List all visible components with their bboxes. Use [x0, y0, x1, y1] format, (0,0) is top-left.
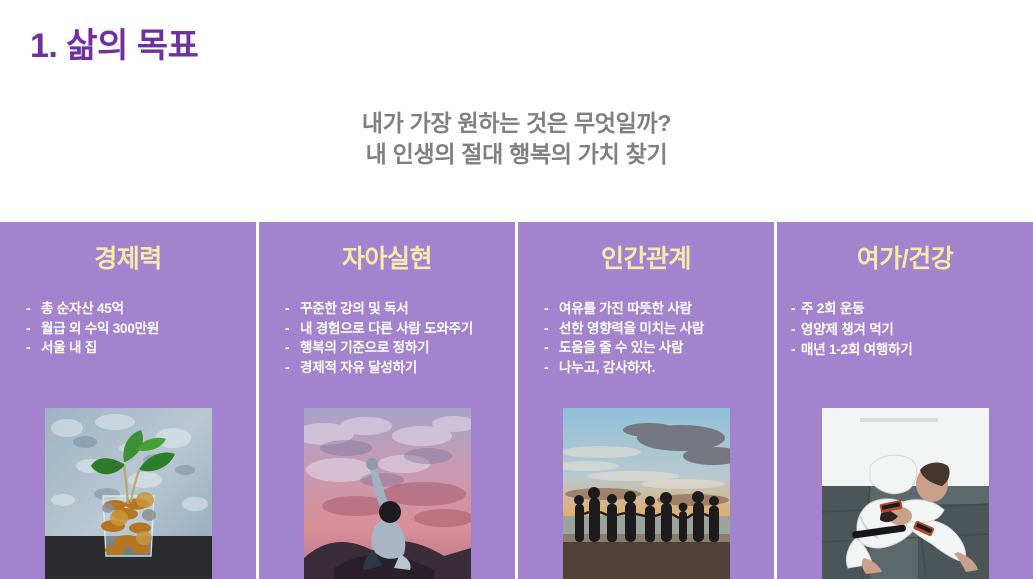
- list-item-label: 월급 외 수익 300만원: [41, 319, 248, 339]
- column-photo-wrap: [259, 408, 515, 579]
- bullet-dash-icon: -: [285, 319, 300, 339]
- column-heading: 인간관계: [601, 239, 691, 275]
- list-item: - 주 2회 운동: [791, 299, 1025, 320]
- list-item-label: 서울 내 집: [41, 338, 248, 358]
- bullet-dash-icon: -: [285, 358, 300, 378]
- column-heading: 여가/건강: [857, 239, 953, 275]
- bullet-dash-icon: -: [26, 338, 41, 358]
- list-item: - 매년 1-2회 여행하기: [791, 340, 1025, 361]
- list-item-label: 경제적 자유 달성하기: [300, 358, 507, 378]
- list-item: - 서울 내 집: [26, 338, 248, 358]
- bullet-dash-icon: -: [544, 319, 559, 339]
- column-self-realization[interactable]: 자아실현 - 꾸준한 강의 및 독서 - 내 경험으로 다른 사람 도와주기 -…: [259, 222, 515, 579]
- goal-columns: 경제력 - 총 순자산 45억 - 월급 외 수익 300만원 - 서울 내 집: [0, 222, 1033, 579]
- list-item: - 총 순자산 45억: [26, 299, 248, 319]
- column-photo-wrap: [518, 408, 774, 579]
- bullet-dash-icon: -: [544, 358, 559, 378]
- coins-jar-sprout-photo: [45, 408, 212, 579]
- column-bullet-list: - 여유를 가진 따뜻한 사람 - 선한 영향력을 미치는 사람 - 도움을 줄…: [518, 299, 774, 377]
- bullet-dash-icon: -: [791, 299, 801, 320]
- list-item: - 여유를 가진 따뜻한 사람: [544, 299, 766, 319]
- list-item: - 도움을 줄 수 있는 사람: [544, 338, 766, 358]
- list-item-label: 나누고, 감사하자.: [559, 358, 766, 378]
- subtitle-line-2: 내 인생의 절대 행복의 가치 찾기: [0, 139, 1033, 170]
- column-leisure-health[interactable]: 여가/건강 - 주 2회 운동 - 영양제 챙겨 먹기 - 매년 1-2회 여행…: [777, 222, 1033, 579]
- list-item: - 선한 영향력을 미치는 사람: [544, 319, 766, 339]
- slide-subtitle: 내가 가장 원하는 것은 무엇일까? 내 인생의 절대 행복의 가치 찾기: [0, 108, 1033, 170]
- column-bullet-list: - 주 2회 운동 - 영양제 챙겨 먹기 - 매년 1-2회 여행하기: [777, 299, 1033, 361]
- bullet-dash-icon: -: [26, 319, 41, 339]
- list-item-label: 여유를 가진 따뜻한 사람: [559, 299, 766, 319]
- list-item-label: 행복의 기준으로 정하기: [300, 338, 507, 358]
- column-heading: 경제력: [94, 239, 162, 275]
- bullet-dash-icon: -: [544, 338, 559, 358]
- list-item: - 나누고, 감사하자.: [544, 358, 766, 378]
- slide-canvas: 1. 삶의 목표 내가 가장 원하는 것은 무엇일까? 내 인생의 절대 행복의…: [0, 0, 1033, 579]
- list-item-label: 내 경험으로 다른 사람 도와주기: [300, 319, 507, 339]
- list-item: - 행복의 기준으로 정하기: [285, 338, 507, 358]
- bullet-dash-icon: -: [791, 340, 801, 361]
- list-item-label: 총 순자산 45억: [41, 299, 248, 319]
- list-item-label: 꾸준한 강의 및 독서: [300, 299, 507, 319]
- subtitle-line-1: 내가 가장 원하는 것은 무엇일까?: [0, 108, 1033, 139]
- list-item: - 경제적 자유 달성하기: [285, 358, 507, 378]
- column-heading: 자아실현: [342, 239, 432, 275]
- column-bullet-list: - 총 순자산 45억 - 월급 외 수익 300만원 - 서울 내 집: [0, 299, 256, 358]
- bullet-dash-icon: -: [791, 320, 801, 341]
- people-holding-hands-sunset-photo: [563, 408, 730, 579]
- bullet-dash-icon: -: [544, 299, 559, 319]
- bullet-dash-icon: -: [285, 299, 300, 319]
- column-photo-wrap: [777, 408, 1033, 579]
- column-relationships[interactable]: 인간관계 - 여유를 가진 따뜻한 사람 - 선한 영향력을 미치는 사람 - …: [518, 222, 774, 579]
- column-economy[interactable]: 경제력 - 총 순자산 45억 - 월급 외 수익 300만원 - 서울 내 집: [0, 222, 256, 579]
- column-photo-wrap: [0, 408, 256, 579]
- bullet-dash-icon: -: [285, 338, 300, 358]
- column-bullet-list: - 꾸준한 강의 및 독서 - 내 경험으로 다른 사람 도와주기 - 행복의 …: [259, 299, 515, 377]
- list-item: - 월급 외 수익 300만원: [26, 319, 248, 339]
- list-item-label: 주 2회 운동: [801, 299, 1025, 320]
- person-raised-fist-mountain-photo: [304, 408, 471, 579]
- jiu-jitsu-grappling-photo: [822, 408, 989, 579]
- list-item-label: 매년 1-2회 여행하기: [801, 340, 1025, 361]
- list-item: - 내 경험으로 다른 사람 도와주기: [285, 319, 507, 339]
- list-item: - 꾸준한 강의 및 독서: [285, 299, 507, 319]
- bullet-dash-icon: -: [26, 299, 41, 319]
- list-item-label: 도움을 줄 수 있는 사람: [559, 338, 766, 358]
- page-title: 1. 삶의 목표: [30, 18, 198, 67]
- list-item: - 영양제 챙겨 먹기: [791, 320, 1025, 341]
- list-item-label: 선한 영향력을 미치는 사람: [559, 319, 766, 339]
- list-item-label: 영양제 챙겨 먹기: [801, 320, 1025, 341]
